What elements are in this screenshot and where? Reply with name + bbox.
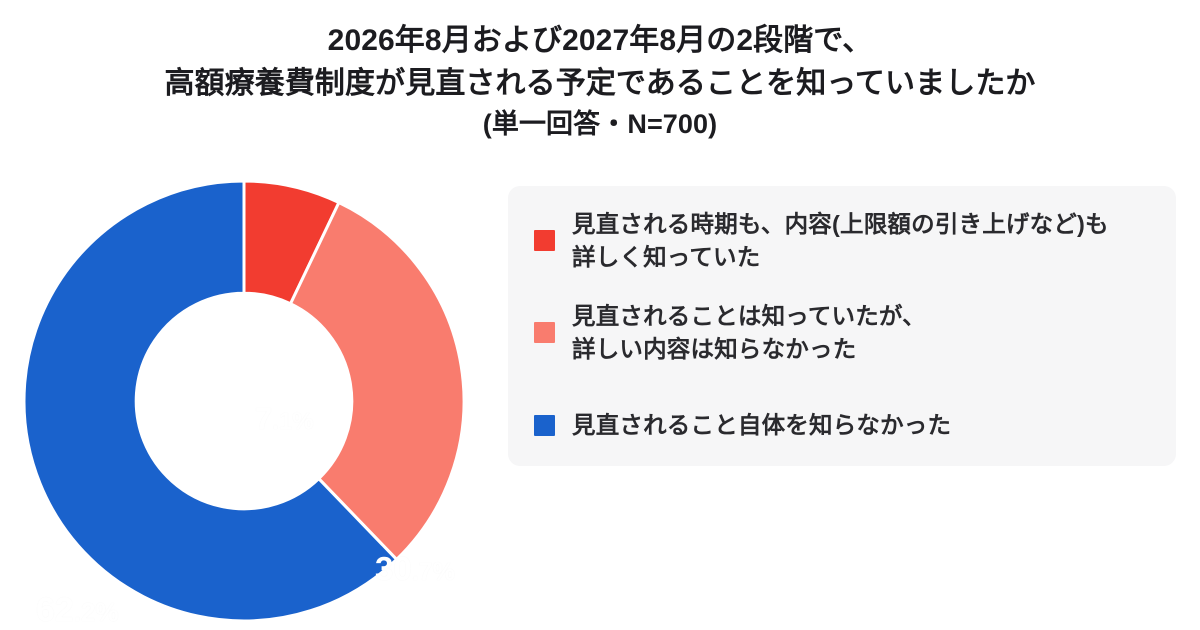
slice-label-blue: 62.2%	[36, 593, 119, 627]
title-line-2: 高額療養費制度が見直される予定であることを知っていましたか	[0, 63, 1200, 106]
slice-label-blue-small: .2%	[74, 597, 119, 627]
slice-label-blue-big: 62	[36, 591, 74, 629]
legend-swatch-icon	[534, 230, 555, 251]
legend-item-label: 見直される時期も、内容(上限額の引き上げなど)も 詳しく知っていた	[572, 208, 1109, 274]
chart-canvas: 2026年8月および2027年8月の2段階で、 高額療養費制度が見直される予定で…	[0, 0, 1200, 630]
slice-label-red-small: .1%	[272, 408, 313, 435]
title-line-3: (単一回答・N=700)	[0, 105, 1200, 143]
slice-label-salmon-small: .7%	[412, 558, 455, 586]
legend-list: 見直される時期も、内容(上限額の引き上げなど)も 詳しく知っていた見直されること…	[534, 206, 1154, 458]
legend-item-label: 見直されること自体を知らなかった	[572, 409, 951, 442]
legend-item[interactable]: 見直されることは知っていたが、 詳しい内容は知らなかった	[534, 300, 1154, 366]
legend-swatch-icon	[534, 322, 555, 343]
legend-item[interactable]: 見直されること自体を知らなかった	[534, 394, 1154, 458]
page-title: 2026年8月および2027年8月の2段階で、 高額療養費制度が見直される予定で…	[0, 20, 1200, 144]
legend-panel: 見直される時期も、内容(上限額の引き上げなど)も 詳しく知っていた見直されること…	[508, 186, 1176, 466]
slice-label-red: 7.1%	[255, 403, 314, 434]
legend-swatch-icon	[534, 415, 555, 436]
donut-chart: 7.1% 30.7% 62.2%	[4, 181, 484, 621]
slice-label-red-big: 7	[255, 401, 272, 436]
slice-label-salmon-big: 30	[375, 550, 412, 587]
legend-item[interactable]: 見直される時期も、内容(上限額の引き上げなど)も 詳しく知っていた	[534, 208, 1154, 274]
slice-label-salmon: 30.7%	[375, 552, 455, 585]
legend-item-label: 見直されることは知っていたが、 詳しい内容は知らなかった	[572, 300, 926, 366]
title-line-1: 2026年8月および2027年8月の2段階で、	[0, 20, 1200, 63]
